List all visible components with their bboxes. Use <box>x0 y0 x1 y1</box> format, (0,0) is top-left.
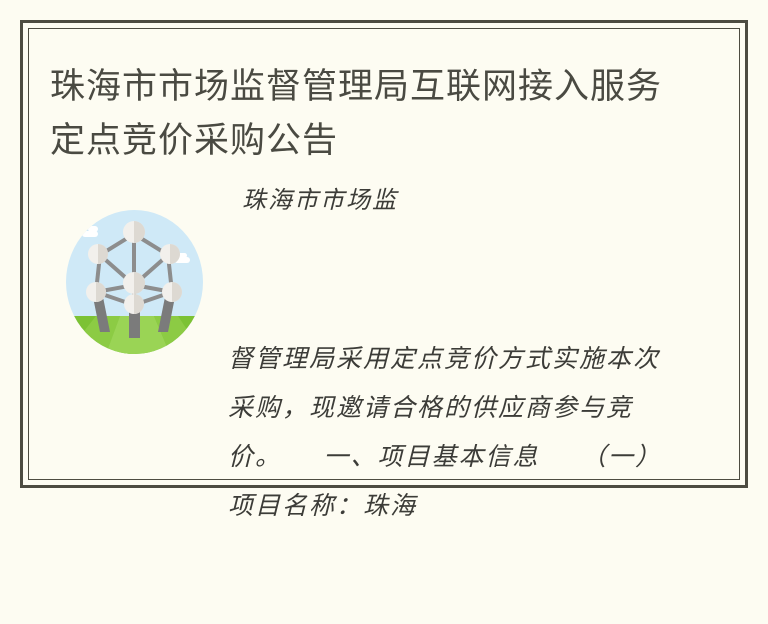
page-title: 珠海市市场监督管理局互联网接入服务定点竞价采购公告 <box>50 60 670 168</box>
announcement-card-page: 珠海市市场监督管理局互联网接入服务定点竞价采购公告 <box>0 0 768 510</box>
announcement-body-text: 督管理局采用定点竞价方式实施本次采购，现邀请合格的供应商参与竞价。 一、项目基本… <box>228 334 673 530</box>
card-content: 珠海市市场监督管理局互联网接入服务定点竞价采购公告 <box>28 28 740 480</box>
card-body-row: 珠海市市场监 督管理局采用定点竞价方式实施本次采购，现邀请合格的供应商参与竞价。… <box>28 183 740 413</box>
announcement-body-lead: 珠海市市场监 <box>242 176 662 225</box>
atomium-monument-icon <box>66 210 203 354</box>
announcement-body: 珠海市市场监 督管理局采用定点竞价方式实施本次采购，现邀请合格的供应商参与竞价。… <box>228 183 673 624</box>
